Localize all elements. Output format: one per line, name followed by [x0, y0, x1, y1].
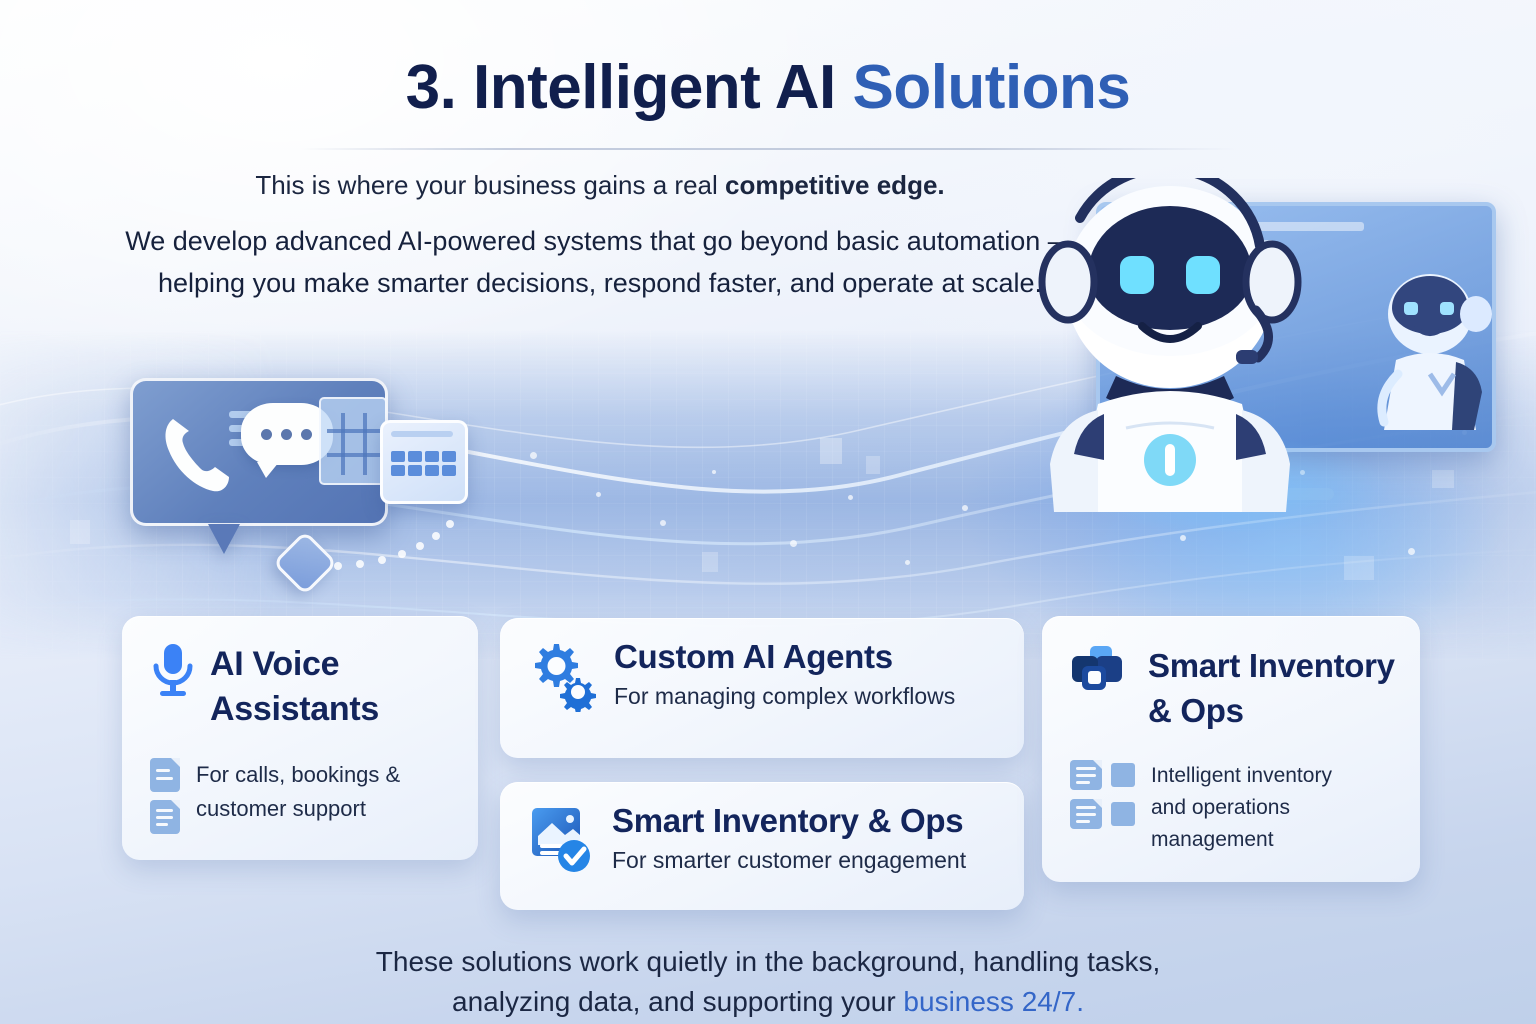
intro-paragraph: We develop advanced AI-powered systems t…: [120, 220, 1080, 304]
calendar-panel-icon: [319, 397, 387, 485]
card-smart-inventory-ops-mid[interactable]: Smart Inventory & Ops For smarter custom…: [500, 782, 1024, 910]
mini-robot-icon: [1368, 262, 1518, 452]
infographic-canvas: 3. Intelligent AI Solutions This is wher…: [0, 0, 1536, 1024]
card-title: Custom AI Agents: [614, 640, 955, 673]
card-body: For calls, bookings & customer support: [150, 758, 426, 834]
title-accent: Solutions: [852, 53, 1130, 122]
chat-bubble-tail: [208, 524, 240, 554]
chat-bubble-card: [130, 378, 388, 526]
footer-highlight: business 24/7.: [903, 986, 1084, 1017]
intro-lead-bold: competitive edge.: [725, 170, 945, 200]
card-text: Smart Inventory & Ops For smarter custom…: [612, 804, 966, 874]
card-subtitle: For calls, bookings & customer support: [196, 758, 426, 826]
calendar-side-card: [380, 420, 468, 504]
card-content: Smart Inventory & Ops For smarter custom…: [530, 804, 966, 874]
robot-character: [1020, 178, 1320, 538]
footer-line-1: These solutions work quietly in the back…: [0, 942, 1536, 982]
gears-icon: [530, 640, 598, 712]
card-content: Custom AI Agents For managing complex wo…: [530, 640, 955, 712]
card-header: AI Voice Assistants: [150, 642, 410, 732]
title-main: 3. Intelligent AI: [406, 53, 853, 122]
title-divider: [300, 148, 1236, 150]
image-check-icon: [530, 804, 596, 874]
page-title: 3. Intelligent AI Solutions: [0, 52, 1536, 123]
node-diamond-icon: [272, 530, 337, 595]
microphone-icon: [150, 642, 196, 700]
dotted-connector-path: [330, 518, 480, 588]
intro-lead: This is where your business gains a real…: [120, 168, 1080, 202]
card-body: Intelligent inventory and operations man…: [1070, 760, 1366, 856]
phone-icon: [155, 411, 235, 499]
calendar-grid: [391, 451, 456, 476]
grid-lines-icon: [327, 413, 379, 477]
footer-text: These solutions work quietly in the back…: [0, 942, 1536, 1023]
card-custom-ai-agents[interactable]: Custom AI Agents For managing complex wo…: [500, 618, 1024, 758]
card-subtitle: For managing complex workflows: [614, 683, 955, 710]
card-title: Smart Inventory & Ops: [612, 804, 966, 837]
card-text: Custom AI Agents For managing complex wo…: [614, 640, 955, 710]
calendar-header-bar: [391, 431, 453, 437]
document-stack-icon: [150, 758, 180, 834]
card-ai-voice-assistants[interactable]: AI Voice Assistants For calls, bookings …: [122, 616, 478, 860]
card-header: Smart Inventory & Ops: [1070, 644, 1406, 733]
stacked-squares-icon: [1070, 644, 1132, 704]
intro-lead-prefix: This is where your business gains a real: [255, 170, 725, 200]
card-title: AI Voice Assistants: [210, 642, 410, 732]
card-smart-inventory-ops-right[interactable]: Smart Inventory & Ops Intelligent invent…: [1042, 616, 1420, 882]
intro-block: This is where your business gains a real…: [120, 168, 1080, 305]
card-subtitle: Intelligent inventory and operations man…: [1151, 760, 1366, 856]
footer-line-2: analyzing data, and supporting your busi…: [0, 982, 1536, 1022]
card-subtitle: For smarter customer engagement: [612, 847, 966, 874]
list-rows-icon: [1070, 760, 1135, 829]
footer-line-2-prefix: analyzing data, and supporting your: [452, 986, 903, 1017]
chat-support-illustration: [130, 378, 480, 578]
card-title: Smart Inventory & Ops: [1148, 644, 1406, 733]
ai-robot-assistant-illustration: [1010, 178, 1510, 578]
